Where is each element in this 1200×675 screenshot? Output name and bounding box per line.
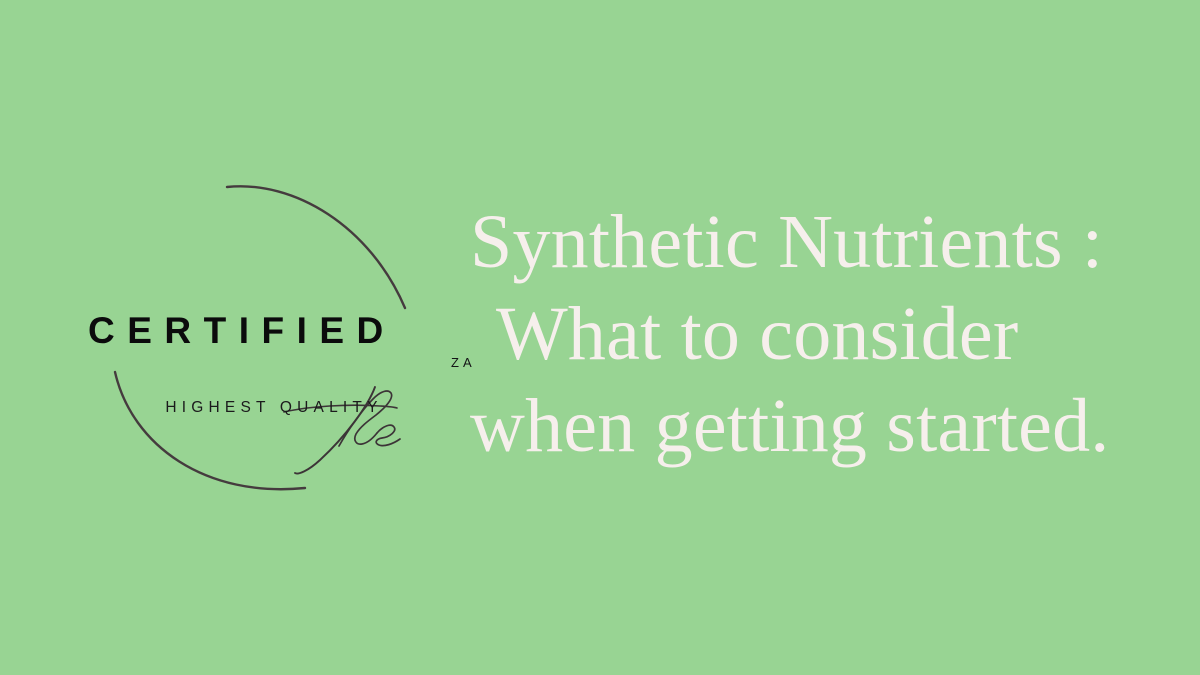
certified-badge-logo: CERTIFIED ZA HIGHEST QUALITY bbox=[80, 160, 460, 520]
headline: Synthetic Nutrients : What to consider w… bbox=[470, 196, 1170, 472]
badge-country-row: ZA bbox=[88, 356, 508, 380]
badge-arc-top bbox=[227, 186, 405, 308]
badge-arc-bottom bbox=[115, 372, 305, 489]
headline-line-2: What to consider bbox=[470, 288, 1170, 380]
badge-main-word: CERTIFIED bbox=[88, 312, 448, 349]
headline-line-3: when getting started. bbox=[470, 380, 1170, 472]
headline-line-1: Synthetic Nutrients : bbox=[470, 196, 1170, 288]
promo-banner: CERTIFIED ZA HIGHEST QUALITY Synthetic N… bbox=[0, 0, 1200, 675]
badge-tagline: HIGHEST QUALITY bbox=[80, 400, 460, 416]
